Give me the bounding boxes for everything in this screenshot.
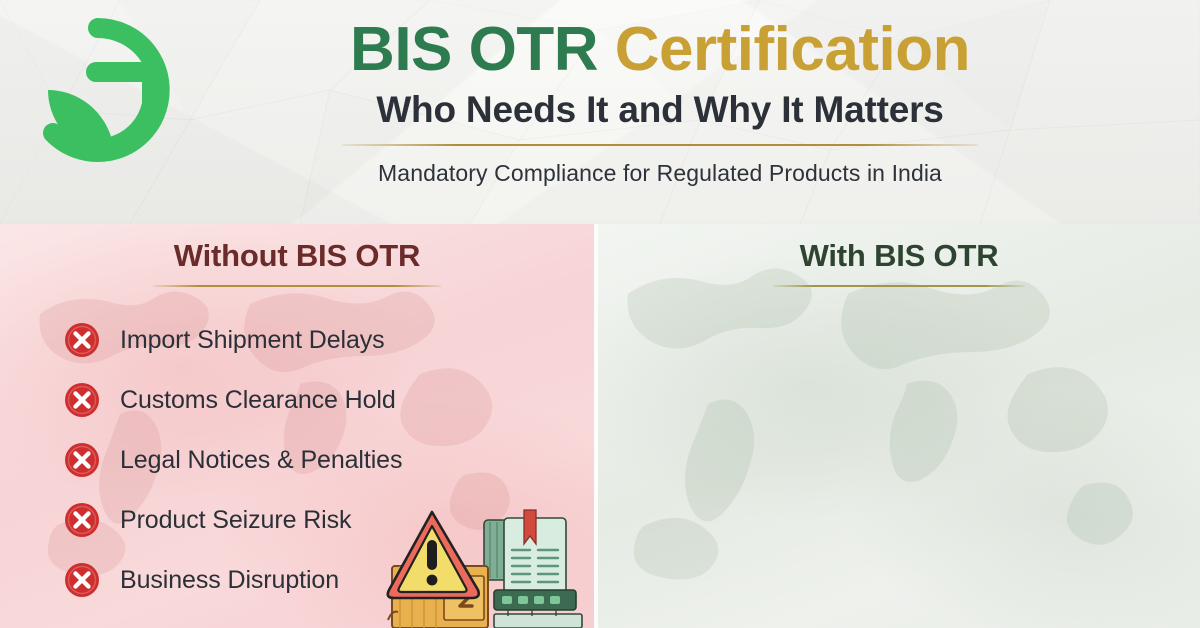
right-panel-rule: [773, 285, 1025, 287]
title-part-bis-otr: BIS OTR: [350, 15, 615, 84]
infographic-canvas: BIS OTR Certification Who Needs It and W…: [0, 0, 1200, 628]
page-title: BIS OTR Certification: [195, 18, 1125, 81]
title-block: BIS OTR Certification Who Needs It and W…: [195, 18, 1125, 187]
list-item-label: Business Disruption: [120, 566, 339, 595]
list-item-label: Legal Notices & Penalties: [120, 446, 402, 475]
list-item: Import Shipment Delays: [64, 310, 534, 370]
left-panel-rule: [153, 285, 441, 287]
list-item-label: Import Shipment Delays: [120, 326, 385, 355]
cross-circle-icon: [64, 502, 100, 538]
page-tagline: Mandatory Compliance for Regulated Produ…: [195, 160, 1125, 187]
list-item: Customs Clearance Hold: [64, 370, 534, 430]
list-item: Business Disruption: [64, 550, 534, 610]
list-item: Product Seizure Risk: [64, 490, 534, 550]
list-item-label: Product Seizure Risk: [120, 506, 351, 535]
without-bis-otr-list: Import Shipment Delays Customs Clearance…: [64, 310, 534, 610]
left-panel-head: Without BIS OTR: [0, 238, 594, 287]
cross-circle-icon: [64, 562, 100, 598]
comparison-panels: Without BIS OTR Import Shipment Delays: [0, 224, 1200, 628]
cross-circle-icon: [64, 442, 100, 478]
cross-circle-icon: [64, 382, 100, 418]
page-subtitle: Who Needs It and Why It Matters: [195, 91, 1125, 130]
left-panel-heading: Without BIS OTR: [0, 238, 594, 274]
title-part-certification: Certification: [615, 15, 970, 84]
greenlogo-g-icon: [18, 12, 178, 172]
title-divider-rule: [342, 144, 978, 146]
right-panel-head: With BIS OTR: [598, 238, 1200, 287]
panel-with-bis-otr: With BIS OTR Smooth Import Clearance: [598, 224, 1200, 628]
right-panel-heading: With BIS OTR: [598, 238, 1200, 274]
cross-circle-icon: [64, 322, 100, 358]
header-band: BIS OTR Certification Who Needs It and W…: [0, 0, 1200, 224]
list-item-label: Customs Clearance Hold: [120, 386, 396, 415]
list-item: Legal Notices & Penalties: [64, 430, 534, 490]
panel-without-bis-otr: Without BIS OTR Import Shipment Delays: [0, 224, 594, 628]
